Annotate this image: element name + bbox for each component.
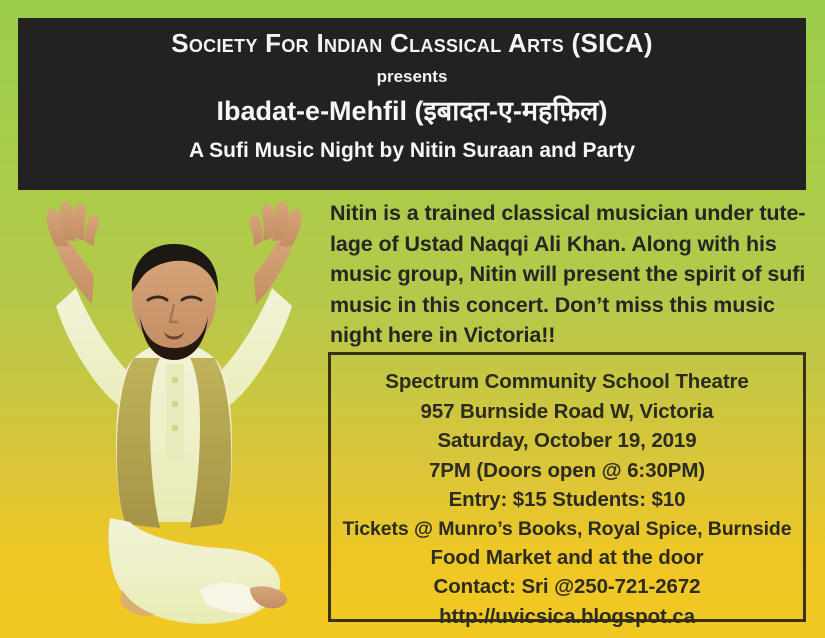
event-time: 7PM (Doors open @ 6:30PM) [429, 456, 705, 486]
website-link[interactable]: http://uvicsica.blogspot.ca [439, 602, 695, 632]
event-details-box: Spectrum Community School Theatre 957 Bu… [328, 352, 806, 622]
poster-canvas: Society For Indian Classical Arts (SICA)… [0, 0, 825, 638]
description-line: music group, Nitin will present the spir… [330, 259, 810, 290]
description-line: night here in Victoria!! [330, 320, 810, 351]
contact-info: Contact: Sri @250-721-2672 [434, 572, 701, 602]
event-title: Ibadat-e-Mehfil (इबादत-ए-महफ़िल) [217, 96, 608, 127]
ticket-outlets-line-2: Food Market and at the door [431, 543, 704, 573]
performer-illustration [14, 192, 334, 638]
venue-address: 957 Burnside Road W, Victoria [421, 397, 714, 427]
presents-label: presents [377, 67, 448, 87]
performer-description: Nitin is a trained classical musician un… [330, 198, 810, 351]
ticket-price: Entry: $15 Students: $10 [449, 485, 686, 515]
performer-photo [14, 192, 334, 638]
description-line: Nitin is a trained classical musician un… [330, 198, 810, 229]
event-date: Saturday, October 19, 2019 [437, 426, 696, 456]
ticket-outlets-line-1: Tickets @ Munro’s Books, Royal Spice, Bu… [343, 515, 792, 543]
header-banner: Society For Indian Classical Arts (SICA)… [18, 18, 806, 190]
description-line: music in this concert. Don’t miss this m… [330, 290, 810, 321]
venue-name: Spectrum Community School Theatre [385, 367, 748, 397]
description-line: lage of Ustad Naqqi Ali Khan. Along with… [330, 229, 810, 260]
event-subtitle: A Sufi Music Night by Nitin Suraan and P… [189, 139, 635, 163]
organization-title: Society For Indian Classical Arts (SICA) [171, 29, 653, 58]
